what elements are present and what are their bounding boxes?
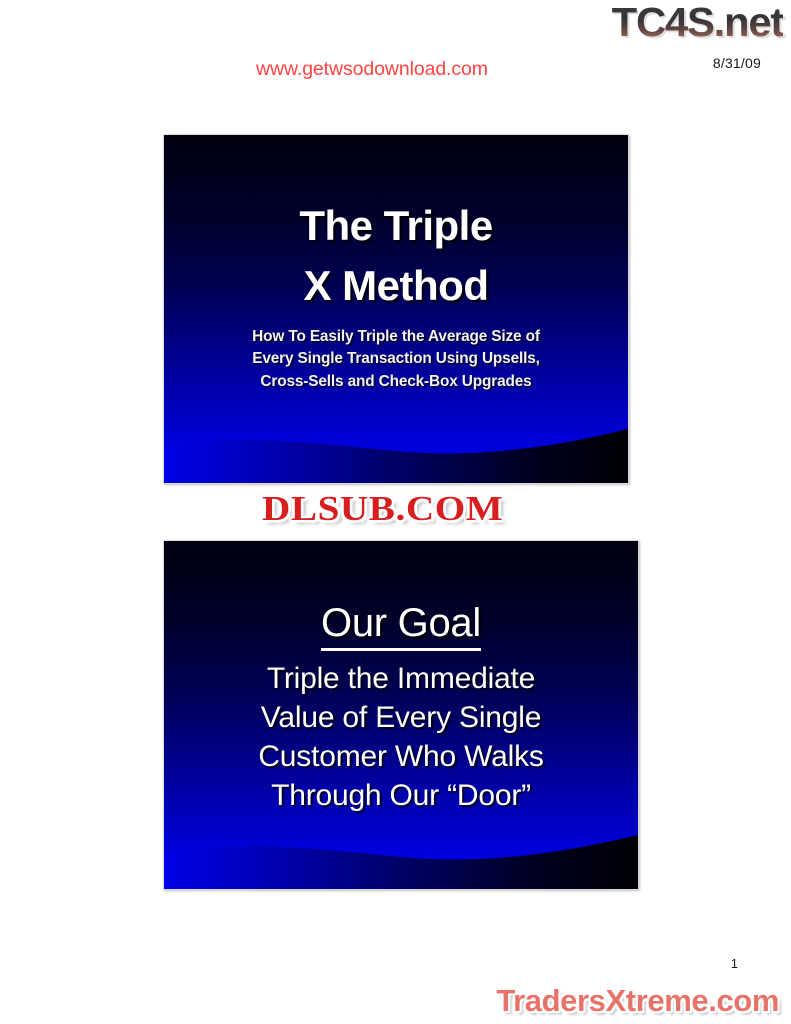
tradersxtreme-logo: TradersXtreme.com	[496, 985, 779, 1016]
download-url-text: www.getwsodownload.com	[256, 58, 488, 81]
slide-1-title-line-2: X Method	[164, 256, 628, 316]
slide-thumbnail-1[interactable]: The Triple X Method How To Easily Triple…	[163, 134, 629, 484]
tc4s-logo: TC4S.net	[612, 2, 783, 43]
header-date: 8/31/09	[713, 55, 761, 71]
slide-1-content: The Triple X Method How To Easily Triple…	[164, 135, 628, 483]
slide-1-subtitle-line-2: Every Single Transaction Using Upsells,	[188, 348, 604, 370]
slide-1-title-line-1: The Triple	[164, 196, 628, 256]
slide-2-content: Our Goal Triple the Immediate Value of E…	[164, 541, 638, 889]
slide-2-title-text: Our Goal	[321, 601, 481, 651]
slide-1-subtitle-line-3: Cross-Sells and Check-Box Upgrades	[188, 371, 604, 393]
slide-2-body-line-4: Through Our “Door”	[182, 776, 620, 815]
slide-thumbnail-2[interactable]: Our Goal Triple the Immediate Value of E…	[163, 540, 639, 890]
dlsub-watermark: DLSUB.COM	[262, 491, 503, 526]
slide-1-subtitle: How To Easily Triple the Average Size of…	[188, 326, 604, 393]
slide-1-subtitle-line-1: How To Easily Triple the Average Size of	[188, 326, 604, 348]
slide-2-body: Triple the Immediate Value of Every Sing…	[182, 659, 620, 815]
slide-2-body-line-3: Customer Who Walks	[182, 737, 620, 776]
page-number: 1	[731, 956, 738, 971]
slide-2-title: Our Goal	[164, 601, 638, 651]
slide-1-title: The Triple X Method	[164, 196, 628, 315]
handout-page: TC4S.net TC4S.net 8/31/09 www.getwsodown…	[0, 0, 791, 1024]
slide-2-body-line-1: Triple the Immediate	[182, 659, 620, 698]
slide-2-body-line-2: Value of Every Single	[182, 698, 620, 737]
